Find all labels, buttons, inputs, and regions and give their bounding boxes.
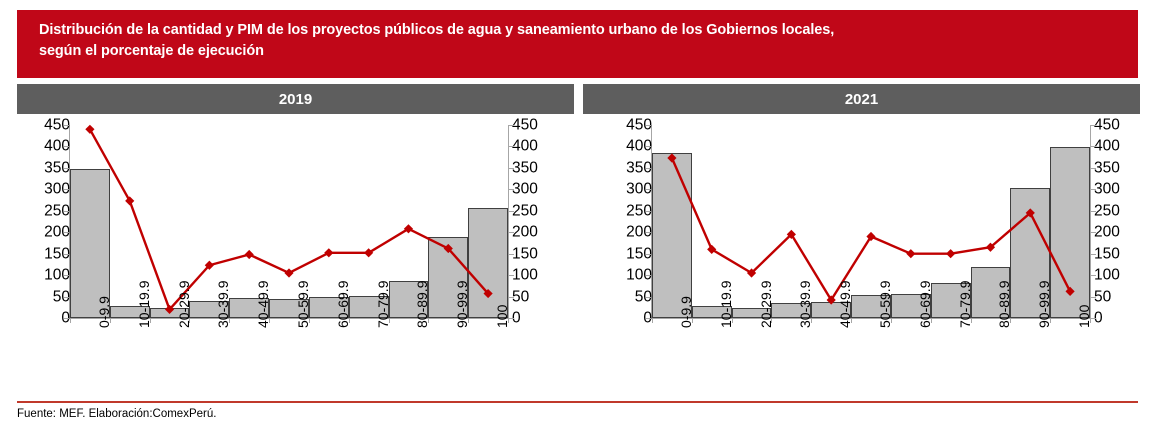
x-axis-tick: [1010, 318, 1011, 323]
line-marker: [906, 249, 915, 258]
y-axis-label-right: 100: [512, 267, 538, 283]
y-axis-tick: [509, 168, 514, 169]
x-axis-tick: [428, 318, 429, 323]
y-axis-tick: [1091, 168, 1096, 169]
y-axis-label-right: 250: [1094, 203, 1120, 219]
x-axis-tick: [652, 318, 653, 323]
line-marker: [946, 249, 955, 258]
y-axis-label-right: 400: [1094, 139, 1120, 155]
y-axis-label-right: 150: [512, 246, 538, 262]
y-axis-tick: [646, 189, 651, 190]
x-axis-label: 0-9.9: [96, 296, 112, 328]
x-axis-tick: [851, 318, 852, 323]
y-axis-label-right: 450: [512, 117, 538, 133]
y-axis-label-right: 350: [512, 160, 538, 176]
y-axis-label-right: 400: [512, 139, 538, 155]
chart-2021: 0050501001001501502002002502503003003503…: [590, 116, 1156, 394]
chart-page: Distribución de la cantidad y PIM de los…: [0, 0, 1156, 431]
y-axis-right-line: [1090, 125, 1091, 318]
y-axis-label-right: 350: [1094, 160, 1120, 176]
chart-2019: 0050501001001501502002002502503003003503…: [8, 116, 574, 394]
line-path: [672, 158, 1070, 300]
y-axis-tick: [1091, 146, 1096, 147]
x-axis-tick: [508, 318, 509, 323]
x-axis-tick: [891, 318, 892, 323]
y-axis-right-line: [508, 125, 509, 318]
y-axis-tick: [646, 211, 651, 212]
y-axis-tick: [646, 297, 651, 298]
y-axis-tick: [509, 146, 514, 147]
y-axis-tick: [509, 211, 514, 212]
x-axis-tick: [811, 318, 812, 323]
x-axis-tick: [150, 318, 151, 323]
y-axis-tick: [509, 232, 514, 233]
page-title-line-2: según el porcentaje de ejecución: [39, 43, 264, 59]
chart-panel-2019: 0050501001001501502002002502503003003503…: [8, 116, 574, 394]
line-marker: [245, 250, 254, 259]
x-axis-tick: [732, 318, 733, 323]
line-marker: [85, 125, 94, 134]
chart-panel-2021: 0050501001001501502002002502503003003503…: [590, 116, 1156, 394]
y-axis-tick: [646, 318, 651, 319]
page-title: Distribución de la cantidad y PIM de los…: [39, 20, 1124, 61]
y-axis-label-right: 450: [1094, 117, 1120, 133]
y-axis-tick: [64, 297, 69, 298]
y-axis-tick: [1091, 189, 1096, 190]
x-axis-tick: [269, 318, 270, 323]
y-axis-label-right: 50: [512, 289, 529, 305]
x-axis-label: 100: [494, 305, 510, 328]
x-axis-tick: [229, 318, 230, 323]
y-axis-tick: [1091, 211, 1096, 212]
y-axis-tick: [1091, 125, 1096, 126]
y-axis-label-right: 100: [1094, 267, 1120, 283]
y-axis-tick: [509, 297, 514, 298]
y-axis-tick: [509, 125, 514, 126]
page-title-line-1: Distribución de la cantidad y PIM de los…: [39, 22, 834, 38]
y-axis-label-right: 200: [1094, 224, 1120, 240]
y-axis-label-right: 50: [1094, 289, 1111, 305]
y-axis-tick: [1091, 297, 1096, 298]
x-axis-tick: [1090, 318, 1091, 323]
line-marker: [667, 153, 676, 162]
x-axis-label: 0-9.9: [678, 296, 694, 328]
line-marker: [125, 196, 134, 205]
x-axis-tick: [971, 318, 972, 323]
line-marker: [324, 248, 333, 257]
panel-header-2019: 2019: [17, 84, 574, 114]
y-axis-tick: [646, 275, 651, 276]
x-axis-tick: [1050, 318, 1051, 323]
y-axis-tick: [646, 168, 651, 169]
y-axis-tick: [646, 146, 651, 147]
panel-header-label-2021: 2021: [845, 91, 878, 108]
y-axis-label-right: 300: [1094, 182, 1120, 198]
x-axis-tick: [189, 318, 190, 323]
y-axis-label-right: 150: [1094, 246, 1120, 262]
y-axis-tick: [64, 189, 69, 190]
y-axis-label-right: 250: [512, 203, 538, 219]
x-axis-tick: [931, 318, 932, 323]
y-axis-tick: [64, 146, 69, 147]
x-axis-tick: [309, 318, 310, 323]
y-axis-tick: [509, 275, 514, 276]
y-axis-tick: [64, 232, 69, 233]
x-axis-tick: [771, 318, 772, 323]
y-axis-label-right: 300: [512, 182, 538, 198]
y-axis-tick: [509, 254, 514, 255]
x-axis-label: 100: [1076, 305, 1092, 328]
x-axis-tick: [692, 318, 693, 323]
panel-header-2021: 2021: [583, 84, 1140, 114]
x-axis-tick: [70, 318, 71, 323]
y-axis-tick: [1091, 254, 1096, 255]
title-banner: Distribución de la cantidad y PIM de los…: [17, 10, 1138, 78]
y-axis-tick: [64, 275, 69, 276]
y-axis-tick: [646, 125, 651, 126]
x-axis-tick: [349, 318, 350, 323]
y-axis-tick: [64, 318, 69, 319]
y-axis-tick: [509, 189, 514, 190]
line-marker: [1065, 287, 1074, 296]
y-axis-tick: [64, 254, 69, 255]
y-axis-tick: [64, 211, 69, 212]
line-marker: [284, 268, 293, 277]
x-axis-tick: [389, 318, 390, 323]
panel-header-label-2019: 2019: [279, 91, 312, 108]
y-axis-tick: [646, 232, 651, 233]
x-axis-tick: [468, 318, 469, 323]
source-note: Fuente: MEF. Elaboración:ComexPerú.: [17, 408, 216, 420]
x-axis-tick: [110, 318, 111, 323]
y-axis-tick: [1091, 232, 1096, 233]
y-axis-tick: [1091, 275, 1096, 276]
y-axis-tick: [64, 125, 69, 126]
y-axis-tick: [646, 254, 651, 255]
y-axis-tick: [64, 168, 69, 169]
y-axis-label-right: 200: [512, 224, 538, 240]
footer-divider: [17, 401, 1138, 403]
